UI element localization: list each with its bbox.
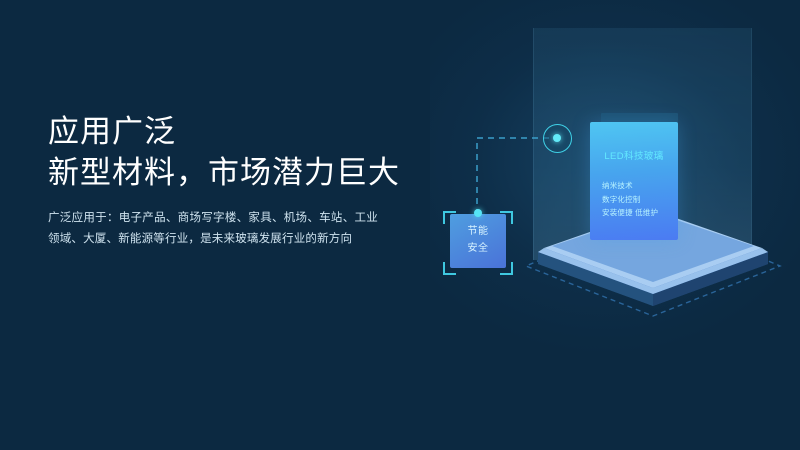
connector-node[interactable] (543, 124, 572, 153)
badge-label: 节能 安全 (443, 223, 513, 257)
led-glass-panel[interactable]: LED科技玻璃 纳米技术 数字化控制 安装便捷 低维护 (590, 122, 678, 240)
panel-features: 纳米技术 数字化控制 安装便捷 低维护 (602, 179, 658, 220)
panel-feature-1: 纳米技术 (602, 179, 658, 193)
panel-feature-3: 安装便捷 低维护 (602, 206, 658, 220)
title-line-1: 应用广泛 (48, 112, 448, 152)
badge-line-2: 安全 (443, 240, 513, 257)
badge-corner-bottom-left (443, 262, 456, 275)
body-paragraph: 广泛应用于：电子产品、商场写字楼、家具、机场、车站、工业领域、大厦、新能源等行业… (48, 208, 378, 250)
badge-corner-bottom-right (500, 262, 513, 275)
title-line-2: 新型材料，市场潜力巨大 (48, 152, 448, 194)
panel-title: LED科技玻璃 (590, 148, 678, 162)
feature-badge[interactable]: 节能 安全 (443, 207, 513, 275)
text-block: 应用广泛 新型材料，市场潜力巨大 广泛应用于：电子产品、商场写字楼、家具、机场、… (48, 112, 448, 250)
connector-node-core (553, 134, 561, 142)
slide-canvas: LED科技玻璃 纳米技术 数字化控制 安装便捷 低维护 节能 安全 (0, 0, 800, 450)
badge-dot-icon (474, 209, 482, 217)
badge-line-1: 节能 (443, 223, 513, 240)
panel-feature-2: 数字化控制 (602, 193, 658, 207)
badge-corner-top-right (500, 211, 513, 224)
